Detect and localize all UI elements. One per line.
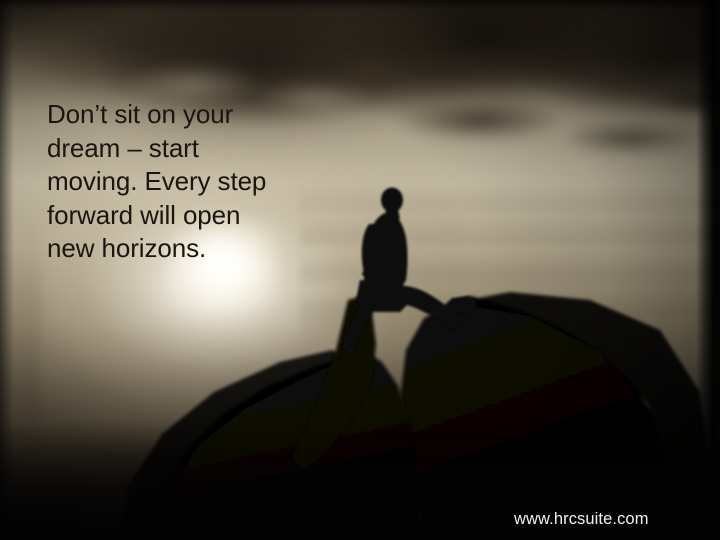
top-edge-shadow — [0, 0, 720, 10]
website-watermark: www.hrcsuite.com — [514, 509, 649, 529]
quote-text: Don’t sit on your dream – start moving. … — [47, 98, 297, 266]
quote-slide: Don’t sit on your dream – start moving. … — [0, 0, 720, 540]
